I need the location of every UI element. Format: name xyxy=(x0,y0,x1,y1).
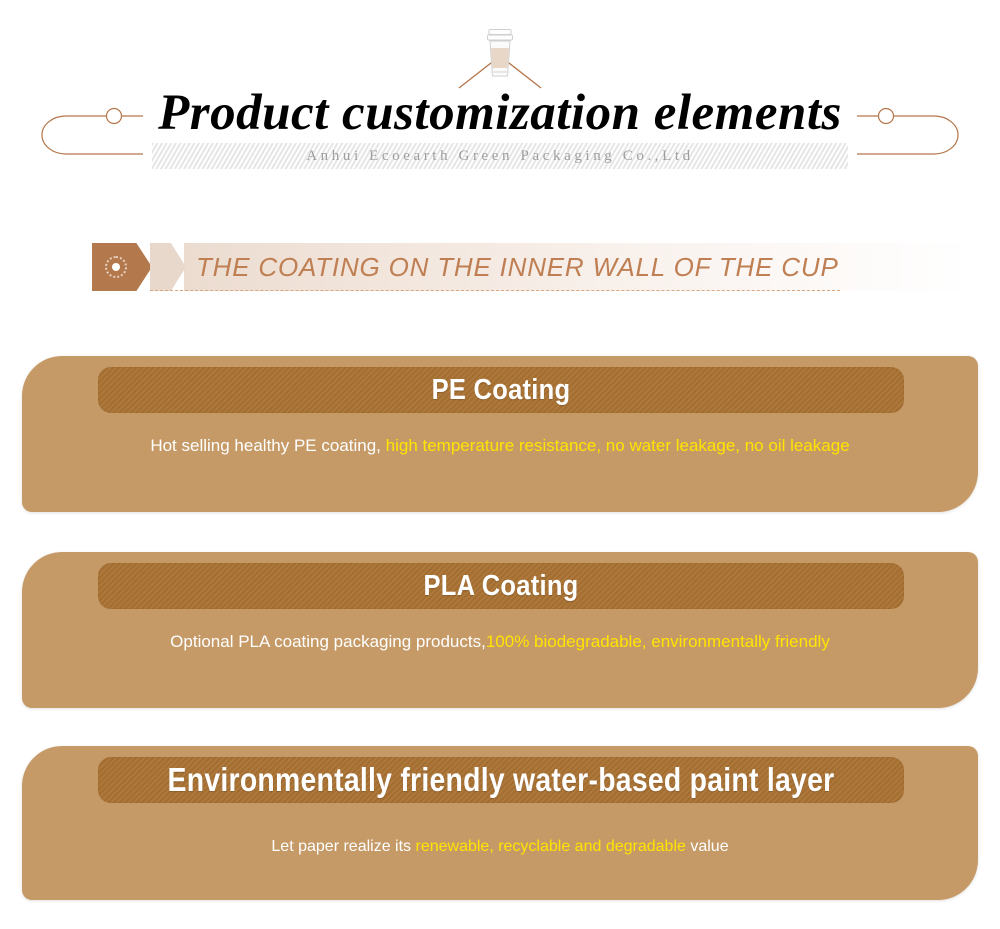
card-title-pill: Environmentally friendly water-based pai… xyxy=(98,757,904,803)
desc-tail: value xyxy=(686,838,729,855)
desc-lead: Optional PLA coating packaging products, xyxy=(170,632,486,651)
coffee-cup-logo xyxy=(455,28,545,90)
section-banner: THE COATING ON THE INNER WALL OF THE CUP xyxy=(92,243,972,291)
desc-highlight: 100% biodegradable, environmentally frie… xyxy=(486,632,830,651)
dot-target-icon xyxy=(105,256,127,278)
page-title: Product customization elements xyxy=(0,84,1000,142)
banner-arrow-shape xyxy=(150,243,186,291)
section-heading: THE COATING ON THE INNER WALL OF THE CUP xyxy=(196,243,976,291)
desc-lead: Let paper realize its xyxy=(271,838,415,855)
page-header: Product customization elements Anhui Eco… xyxy=(0,0,1000,200)
desc-highlight: high temperature resistance, no water le… xyxy=(386,436,850,455)
banner-dashed-rule xyxy=(150,290,840,291)
coating-card: PLA Coating Optional PLA coating packagi… xyxy=(22,552,978,708)
card-description: Let paper realize its renewable, recycla… xyxy=(22,836,978,858)
card-title: PE Coating xyxy=(146,367,855,413)
card-title-pill: PE Coating xyxy=(98,367,904,413)
coating-card: PE Coating Hot selling healthy PE coatin… xyxy=(22,356,978,512)
card-description: Optional PLA coating packaging products,… xyxy=(22,631,978,653)
card-description: Hot selling healthy PE coating, high tem… xyxy=(22,435,978,457)
company-name: Anhui Ecoearth Green Packaging Co.,Ltd xyxy=(152,143,848,169)
card-title-pill: PLA Coating xyxy=(98,563,904,609)
company-subtitle-band: Anhui Ecoearth Green Packaging Co.,Ltd xyxy=(152,143,848,169)
desc-lead: Hot selling healthy PE coating, xyxy=(150,436,385,455)
card-title: PLA Coating xyxy=(146,563,855,609)
desc-highlight: renewable, recyclable and degradable xyxy=(415,838,685,855)
coffee-cup-icon xyxy=(486,28,514,80)
coating-card: Environmentally friendly water-based pai… xyxy=(22,746,978,900)
card-title: Environmentally friendly water-based pai… xyxy=(154,757,847,803)
